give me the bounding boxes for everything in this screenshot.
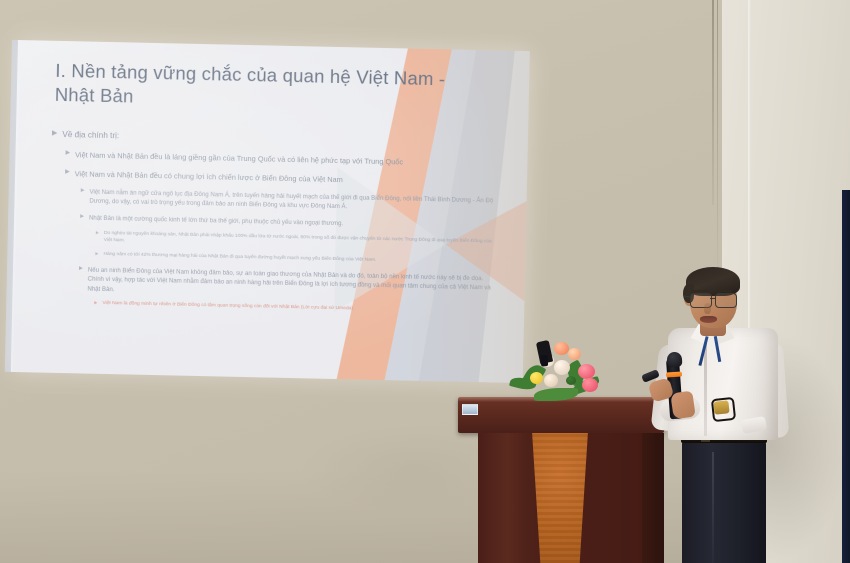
triangle-bullet-icon: ▶: [65, 169, 70, 175]
slide-title: I. Nền tảng vững chắc của quan hệ Việt N…: [55, 59, 476, 117]
slide-surface: I. Nền tảng vững chắc của quan hệ Việt N…: [11, 40, 530, 383]
blossom-bud: [566, 376, 576, 385]
blossom: [554, 360, 570, 375]
presenter-trousers: [682, 440, 766, 563]
presenter-hand-holding-microphone: [670, 391, 695, 420]
podium-body: [478, 433, 642, 563]
trouser-crease: [712, 452, 714, 563]
triangle-bullet-icon: ▶: [96, 230, 99, 234]
blossom: [554, 342, 569, 355]
projected-slide: I. Nền tảng vững chắc của quan hệ Việt N…: [11, 40, 530, 383]
podium-top: [458, 397, 664, 433]
wall-corner-seam-secondary: [717, 0, 718, 280]
blossom: [582, 378, 598, 392]
triangle-bullet-icon: ▶: [65, 150, 70, 156]
presenter-mouth: [700, 316, 717, 323]
presenter-nose: [704, 303, 711, 314]
wall-corner-seam: [712, 0, 714, 205]
glasses-lens-right: [715, 293, 737, 308]
blossom: [568, 348, 581, 360]
triangle-bullet-icon: ▶: [94, 300, 97, 304]
blossom: [544, 374, 558, 387]
eyeglasses-icon: [688, 293, 738, 306]
podium-label-plate: [462, 404, 478, 415]
wristwatch-face: [713, 400, 729, 414]
podium-side-face: [642, 433, 664, 563]
triangle-bullet-icon: ▶: [81, 189, 85, 194]
triangle-bullet-icon: ▶: [80, 215, 84, 220]
slide-body: ▶ Về địa chính trị: ▶ Việt Nam và Nhật B…: [48, 129, 502, 319]
podium-burl-panel: [478, 433, 642, 563]
triangle-bullet-icon: ▶: [79, 267, 83, 272]
blossom: [578, 364, 595, 379]
blossom: [530, 372, 543, 384]
presentation-photo-scene: I. Nền tảng vững chắc của quan hệ Việt N…: [0, 0, 850, 563]
microphone-head: [666, 351, 682, 367]
flower-bouquet: [508, 340, 608, 402]
triangle-bullet-icon: ▶: [95, 251, 98, 255]
shirt-placket: [704, 340, 707, 436]
triangle-bullet-icon: ▶: [52, 130, 58, 137]
leaf: [534, 388, 578, 401]
